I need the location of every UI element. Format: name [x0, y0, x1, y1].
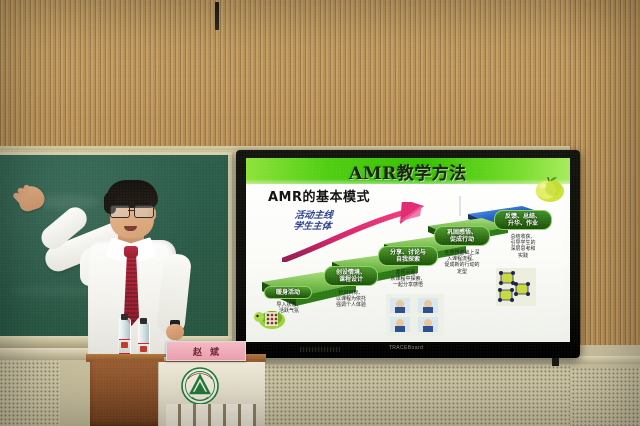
step-4-title-text: 巩固感悟、 促成行动 [447, 229, 477, 244]
network-diagram-photo [496, 268, 536, 306]
necktie-knot [124, 246, 138, 257]
wooden-slat-wall-right [570, 0, 640, 345]
powerpoint-slide: AMR教学方法 AMR的基本模式 活动主线 学生主体 [246, 158, 570, 342]
step-2-title: 创设情境、 课程设计 [324, 266, 378, 286]
classroom-photo: AMR教学方法 AMR的基本模式 活动主线 学生主体 [0, 0, 640, 426]
nameplate-givenname: 斌 [210, 345, 219, 358]
step-5-title-text: 反馈、总结、 升华、作业 [505, 213, 541, 228]
step-1-title: 暖身活动 [264, 286, 312, 299]
presentation-screen[interactable]: AMR教学方法 AMR的基本模式 活动主线 学生主体 [246, 158, 570, 342]
step-5-detail: 总结收获、 引导学生的 深层思考和 实践 [492, 234, 554, 259]
step-1-title-text: 暖身活动 [276, 289, 300, 297]
screen-stand-right [552, 358, 559, 366]
step-2-title-text: 创设情境、 课程设计 [336, 269, 366, 284]
podium-slats [166, 404, 256, 426]
right-hand [166, 324, 184, 340]
ceiling-sensor [215, 2, 219, 30]
step-3-title-text: 分享、讨论与 自我探索 [390, 249, 426, 264]
nameplate-surname: 赵 [193, 345, 202, 358]
wooden-slat-wall [0, 0, 640, 152]
step-3-title: 分享、讨论与 自我探索 [378, 246, 438, 266]
screen-vent [300, 347, 340, 352]
step-5-title: 反馈、总结、 升华、作业 [494, 210, 552, 230]
step-4-title: 巩固感悟、 促成行动 [434, 226, 490, 246]
university-emblem [180, 366, 220, 406]
turtle-graphic [254, 306, 288, 330]
whiteboard-brand-label: TRACEBoard [374, 344, 438, 351]
step-2-detail: 针对目标、 以课程为依托 强调个人体验 [320, 290, 382, 309]
perforated-acoustic-panel-center [236, 362, 570, 426]
students-photo [386, 294, 444, 336]
step-4-detail: 在感悟基础上深 入课程流程、 促成新的行动的 定型 [430, 250, 494, 275]
eyeglasses [110, 205, 156, 217]
name-plate: 赵 斌 [166, 341, 246, 361]
